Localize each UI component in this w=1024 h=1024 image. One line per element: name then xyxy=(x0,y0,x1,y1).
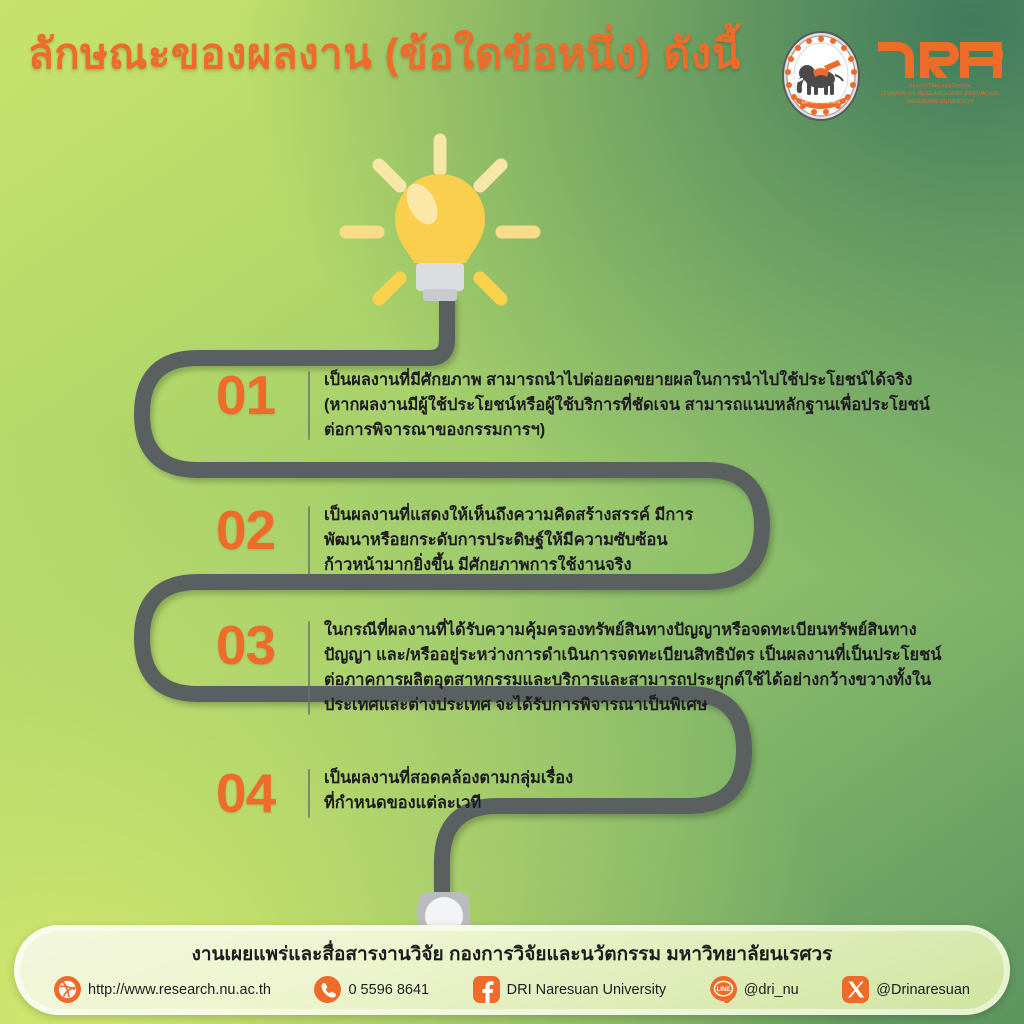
svg-text:LINE: LINE xyxy=(716,987,730,993)
contact-line[interactable]: LINE @dri_nu xyxy=(710,976,799,1003)
header: ลักษณะของผลงาน (ข้อใดข้อหนึ่ง) ดังนี้ xyxy=(0,0,1024,120)
list-item: 04 เป็นผลงานที่สอดคล้องตามกลุ่มเรื่อง ที… xyxy=(216,766,776,821)
list-item: 02 เป็นผลงานที่แสดงให้เห็นถึงความคิดสร้า… xyxy=(216,503,776,578)
footer-title: งานเผยแพร่และสื่อสารงานวิจัย กองการวิจัย… xyxy=(32,939,992,969)
contact-facebook-label: DRI Naresuan University xyxy=(507,982,667,998)
item-divider xyxy=(308,371,310,440)
contact-phone[interactable]: 0 5596 8641 xyxy=(314,976,429,1003)
item-number: 03 xyxy=(216,618,308,673)
item-divider xyxy=(308,621,310,715)
item-text: เป็นผลงานที่แสดงให้เห็นถึงความคิดสร้างสร… xyxy=(324,503,693,578)
website-icon xyxy=(54,976,81,1003)
list-item: 01 เป็นผลงานที่มีศักยภาพ สามารถนำไปต่อยอ… xyxy=(216,368,986,443)
line-icon: LINE xyxy=(710,976,737,1003)
item-number: 02 xyxy=(216,503,308,558)
item-text: เป็นผลงานที่สอดคล้องตามกลุ่มเรื่อง ที่กำ… xyxy=(324,766,573,816)
dri-wordmark-icon xyxy=(876,38,1004,82)
naresuan-university-seal-icon: มหาวิทยาลัยนเรศวร xyxy=(780,30,862,122)
contact-line-label: @dri_nu xyxy=(744,982,799,998)
item-divider xyxy=(308,506,310,575)
page-title: ลักษณะของผลงาน (ข้อใดข้อหนึ่ง) ดังนี้ xyxy=(28,30,741,78)
footer: งานเผยแพร่และสื่อสารงานวิจัย กองการวิจัย… xyxy=(14,925,1010,1015)
phone-icon xyxy=(314,976,341,1003)
list-item: 03 ในกรณีที่ผลงานที่ได้รับความคุ้มครองทร… xyxy=(216,618,986,718)
x-twitter-icon xyxy=(842,976,869,1003)
dri-sub-en-2: NARESUAN UNIVERSITY xyxy=(876,98,1004,106)
contact-x-label: @Drinaresuan xyxy=(876,982,970,998)
lightbulb-icon xyxy=(332,132,548,322)
item-number: 01 xyxy=(216,368,308,423)
facebook-icon xyxy=(473,976,500,1003)
item-text: ในกรณีที่ผลงานที่ได้รับความคุ้มครองทรัพย… xyxy=(324,618,941,718)
dri-sub-en-1: DIVISION OF RESEARCH AND INNOVATION xyxy=(876,90,1004,98)
footer-contacts: http://www.research.nu.ac.th 0 5596 8641… xyxy=(32,976,992,1003)
contact-phone-label: 0 5596 8641 xyxy=(348,982,429,998)
item-divider xyxy=(308,769,310,818)
contact-website[interactable]: http://www.research.nu.ac.th xyxy=(54,976,271,1003)
contact-website-label: http://www.research.nu.ac.th xyxy=(88,982,271,998)
dri-logo: กองการวิจัยและนวัตกรรม DIVISION OF RESEA… xyxy=(876,38,1004,107)
item-number: 04 xyxy=(216,766,308,821)
contact-facebook[interactable]: DRI Naresuan University xyxy=(473,976,667,1003)
item-text: เป็นผลงานที่มีศักยภาพ สามารถนำไปต่อยอดขย… xyxy=(324,368,930,443)
contact-x-twitter[interactable]: @Drinaresuan xyxy=(842,976,970,1003)
svg-text:มหาวิทยาลัยนเรศวร: มหาวิทยาลัยนเรศวร xyxy=(802,100,841,105)
infographic-canvas: ลักษณะของผลงาน (ข้อใดข้อหนึ่ง) ดังนี้ xyxy=(0,0,1024,1024)
dri-sub-thai: กองการวิจัยและนวัตกรรม xyxy=(876,82,1004,90)
